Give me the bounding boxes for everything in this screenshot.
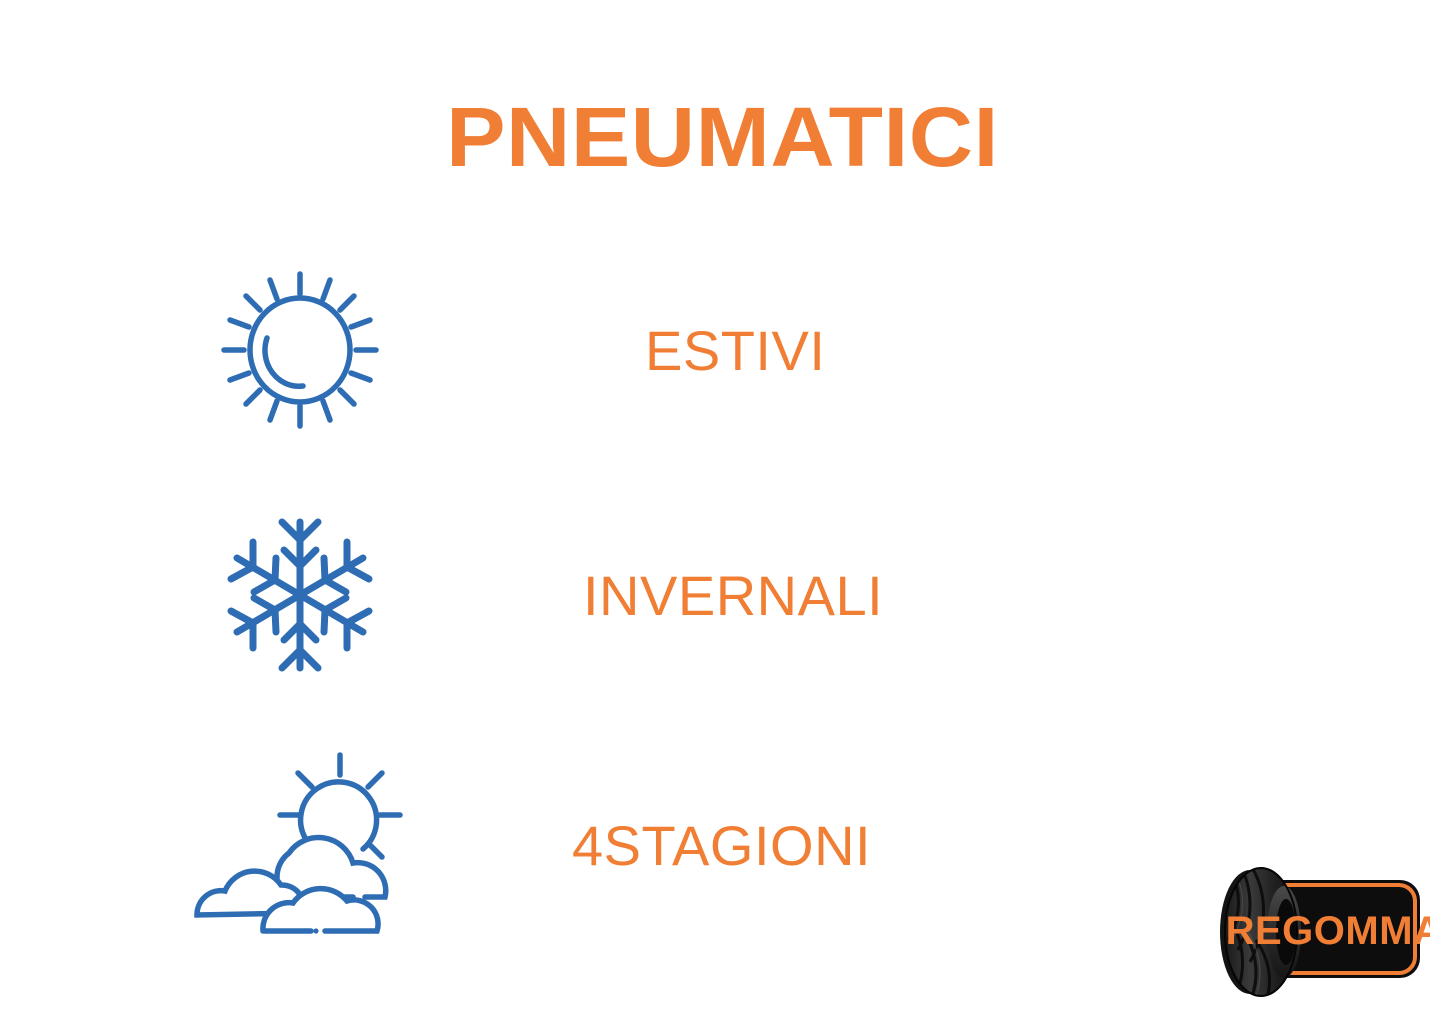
page-title: PNEUMATICI — [0, 95, 1445, 179]
logo-wordmark: REGOMMA — [1226, 909, 1430, 953]
row-label-estivi: ESTIVI — [645, 250, 825, 450]
row-label-invernali: INVERNALI — [583, 495, 883, 695]
poster-canvas: PNEUMATICI — [0, 0, 1445, 1022]
regomma-logo[interactable]: REGOMMA — [1198, 862, 1430, 1002]
sun-behind-clouds-icon — [185, 745, 415, 945]
snowflake-icon — [185, 495, 415, 695]
tyre-category-row-invernali: INVERNALI — [0, 495, 1445, 695]
row-label-4stagioni: 4STAGIONI — [572, 745, 871, 945]
sun-icon — [185, 250, 415, 450]
tyre-category-row-estivi: ESTIVI — [0, 250, 1445, 450]
